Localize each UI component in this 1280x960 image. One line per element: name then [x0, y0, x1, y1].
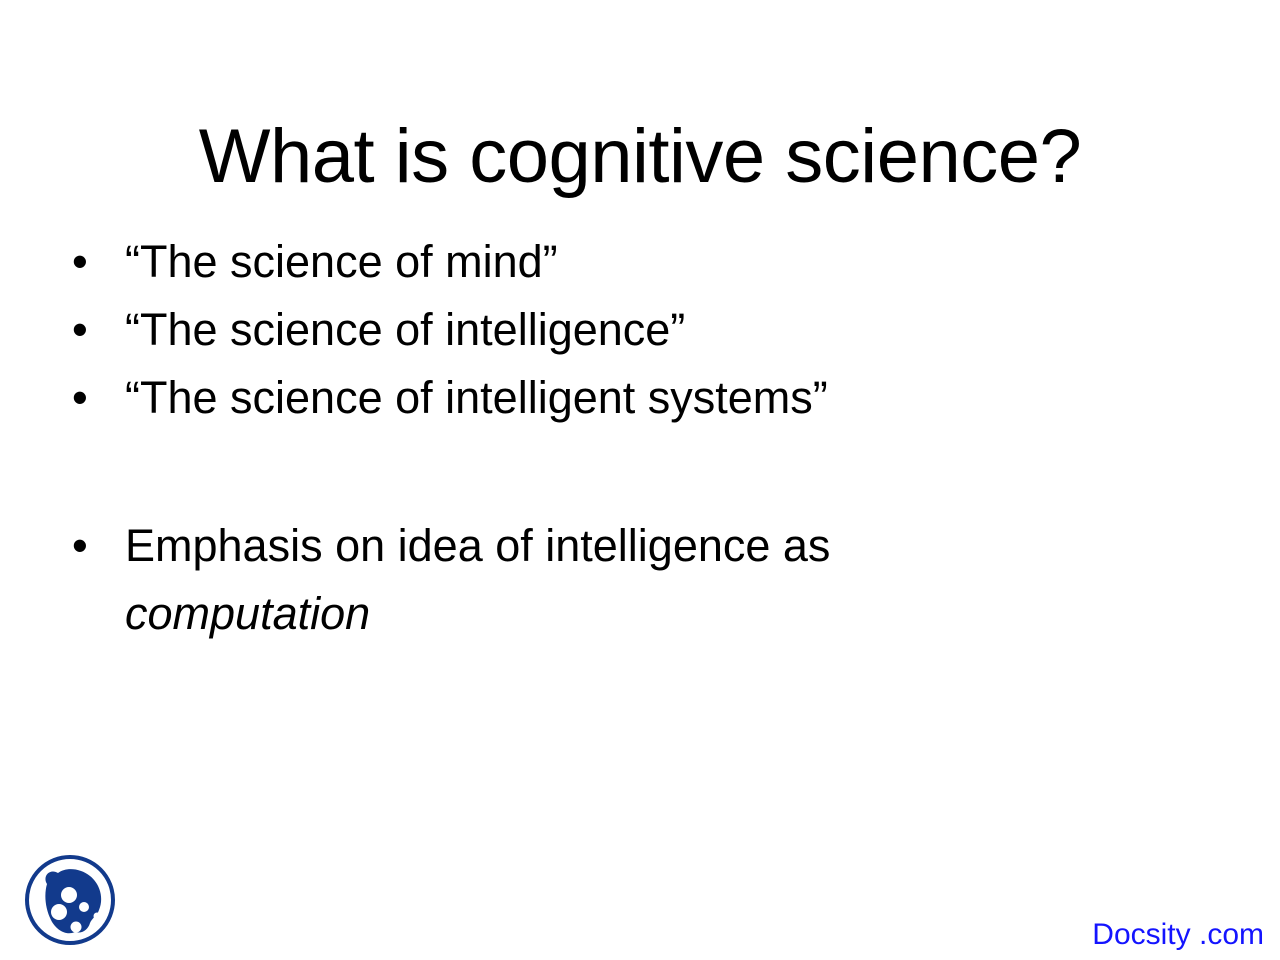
- list-item: • Emphasis on idea of intelligence as co…: [72, 512, 1202, 648]
- list-item: • “The science of mind”: [72, 228, 1202, 296]
- presentation-slide: What is cognitive science? • “The scienc…: [0, 0, 1280, 960]
- bullet-point-icon: •: [72, 296, 125, 364]
- list-item-label: “The science of intelligent systems”: [125, 364, 1202, 432]
- list-item-label: “The science of mind”: [125, 228, 1202, 296]
- list-item-label-main: Emphasis on idea of intelligence as: [125, 520, 830, 571]
- docsity-wordmark: Docsity .com: [1092, 918, 1264, 952]
- bullet-list: • “The science of mind” • “The science o…: [72, 228, 1202, 648]
- list-item-label: Emphasis on idea of intelligence as comp…: [125, 512, 1202, 648]
- docsity-logo-icon: [20, 848, 120, 952]
- bullet-point-icon: •: [72, 228, 125, 296]
- page-title: What is cognitive science?: [0, 119, 1280, 195]
- bullet-point-icon: •: [72, 512, 125, 580]
- list-item-label-emphasis: computation: [125, 580, 1202, 648]
- list-item: • “The science of intelligent systems”: [72, 364, 1202, 432]
- list-item-label: “The science of intelligence”: [125, 296, 1202, 364]
- bullet-point-icon: •: [72, 364, 125, 432]
- list-item: • “The science of intelligence”: [72, 296, 1202, 364]
